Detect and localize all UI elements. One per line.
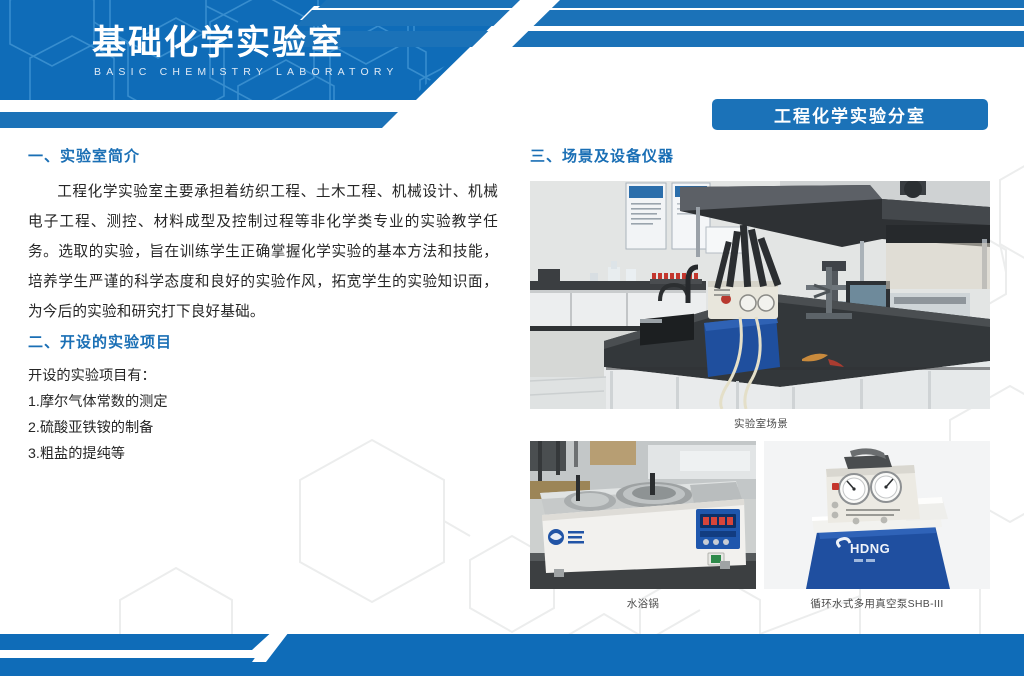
lab-introduction-paragraph: 工程化学实验室主要承担着纺织工程、土木工程、机械设计、机械电子工程、测控、材料成…	[28, 177, 498, 327]
right-column: 三、场景及设备仪器	[530, 147, 992, 611]
list-item: 3.粗盐的提纯等	[28, 441, 498, 467]
equipment-photo-row: 水浴锅	[530, 441, 992, 611]
poster-page: 基础化学实验室 BASIC CHEMISTRY LABORATORY 工程化学实…	[0, 0, 1024, 676]
vacuum-pump-caption: 循环水式多用真空泵SHB-III	[764, 596, 990, 611]
section-2-heading: 二、开设的实验项目	[28, 333, 498, 353]
laboratory-scene-photo	[530, 181, 990, 409]
water-bath-caption: 水浴锅	[530, 596, 756, 611]
left-column: 一、实验室简介 工程化学实验室主要承担着纺织工程、土木工程、机械设计、机械电子工…	[28, 147, 498, 467]
svg-text:HDNG: HDNG	[850, 541, 890, 556]
list-item: 1.摩尔气体常数的测定	[28, 389, 498, 415]
section-3-heading: 三、场景及设备仪器	[530, 147, 992, 167]
page-footer	[0, 624, 1024, 676]
page-title: 基础化学实验室	[92, 22, 399, 64]
page-subtitle-english: BASIC CHEMISTRY LABORATORY	[94, 66, 399, 78]
page-header: 基础化学实验室 BASIC CHEMISTRY LABORATORY 工程化学实…	[0, 0, 1024, 135]
circulating-water-vacuum-pump-photo: HDNG	[764, 441, 990, 589]
list-item: 2.硫酸亚铁铵的制备	[28, 415, 498, 441]
vacuum-pump-photo-cell: HDNG 循环水式多用真空泵SHB-III	[764, 441, 990, 611]
water-bath-photo-cell: 水浴锅	[530, 441, 756, 611]
experiment-list-intro: 开设的实验项目有：	[28, 363, 498, 389]
section-badge[interactable]: 工程化学实验分室	[712, 99, 988, 130]
page-content: 一、实验室简介 工程化学实验室主要承担着纺织工程、土木工程、机械设计、机械电子工…	[0, 135, 1024, 610]
header-title-block: 基础化学实验室 BASIC CHEMISTRY LABORATORY	[92, 22, 399, 78]
experiment-list: 1.摩尔气体常数的测定 2.硫酸亚铁铵的制备 3.粗盐的提纯等	[28, 389, 498, 467]
footer-bar-graphic	[0, 624, 1024, 676]
laboratory-scene-caption: 实验室场景	[530, 416, 992, 431]
water-bath-photo	[530, 441, 756, 589]
section-1-heading: 一、实验室简介	[28, 147, 498, 167]
